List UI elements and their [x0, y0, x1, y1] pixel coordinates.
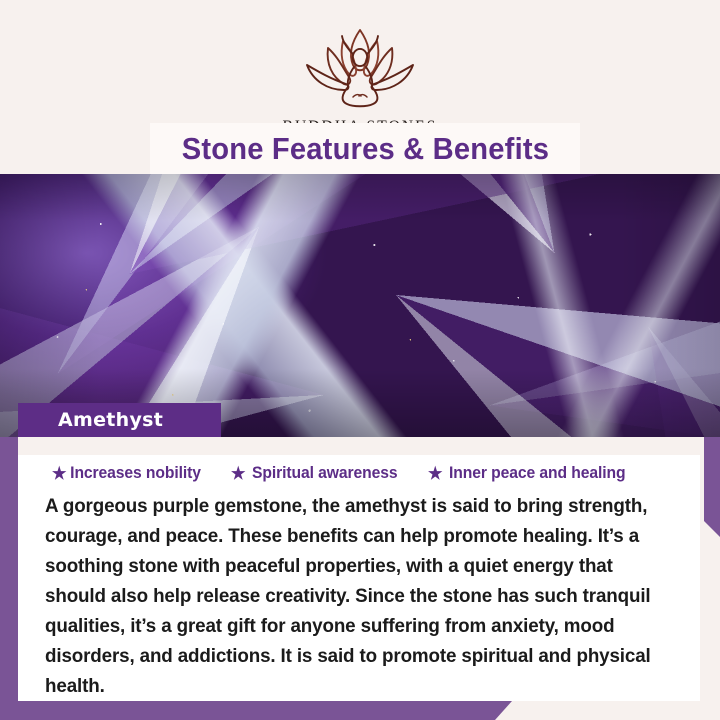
- benefit-label: Increases nobility: [70, 464, 201, 483]
- stone-features-infographic: BUDDHA STONES Stone Features & Benefits …: [0, 0, 720, 720]
- description-panel: ★ Increases nobility ★ Spiritual awarene…: [18, 455, 700, 701]
- frame-band-bottom: [0, 701, 512, 720]
- page-title: Stone Features & Benefits: [181, 131, 548, 167]
- title-plate: Stone Features & Benefits: [150, 123, 580, 174]
- benefit-item-spiritual-awareness: ★ Spiritual awareness: [231, 464, 397, 483]
- benefit-label: Spiritual awareness: [252, 464, 397, 483]
- stone-description: A gorgeous purple gemstone, the amethyst…: [18, 483, 676, 701]
- star-icon: ★: [52, 465, 66, 482]
- photo-layer-vignette: [0, 174, 720, 437]
- brand-lockup: BUDDHA STONES: [0, 24, 720, 136]
- frame-band-left: [0, 437, 18, 720]
- benefit-label: Inner peace and healing: [449, 464, 625, 483]
- lotus-meditation-figure-icon: [287, 24, 433, 114]
- star-icon: ★: [428, 465, 442, 482]
- stone-name: Amethyst: [58, 409, 163, 431]
- benefit-item-inner-peace-and-healing: ★ Inner peace and healing: [428, 464, 625, 483]
- stone-name-ribbon: Amethyst: [18, 403, 221, 437]
- benefit-item-increases-nobility: ★ Increases nobility: [52, 464, 201, 483]
- header-section: BUDDHA STONES Stone Features & Benefits: [0, 0, 720, 174]
- star-icon: ★: [231, 465, 245, 482]
- benefit-list: ★ Increases nobility ★ Spiritual awarene…: [18, 455, 700, 483]
- amethyst-crystal-cluster-photo: Amethyst: [0, 174, 720, 437]
